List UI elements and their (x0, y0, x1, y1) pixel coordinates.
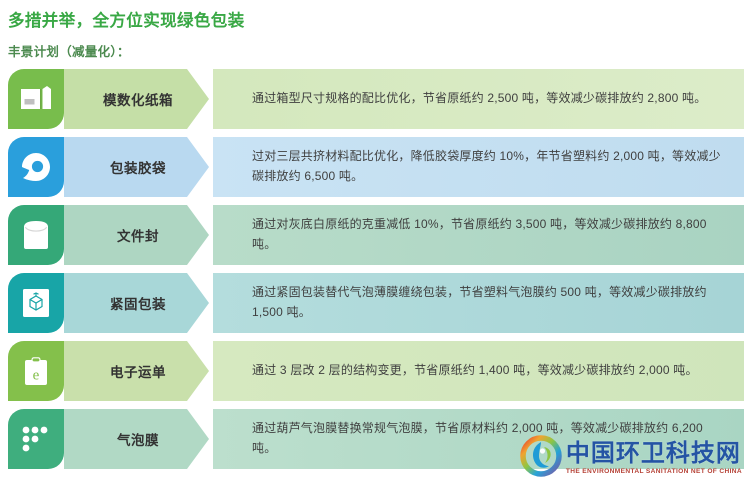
watermark-texts: 中国环卫科技网 THE ENVIRONMENTAL SANITATION NET… (566, 442, 742, 475)
watermark-english: THE ENVIRONMENTAL SANITATION NET OF CHIN… (566, 468, 742, 475)
page-title: 多措并举，全方位实现绿色包装 (8, 12, 750, 32)
sanitation-net-logo-icon (520, 435, 562, 482)
row-description-band: 通过 3 层改 2 层的结构变更，节省原纸约 1,400 吨，等效减少碳排放约 … (212, 341, 744, 401)
table-row: 文件封通过对灰底白原纸的克重减低 10%，节省原纸约 3,500 吨，等效减少碳… (8, 205, 744, 265)
table-row: 紧固包装通过紧固包装替代气泡薄膜缠绕包装，节省塑料气泡膜约 500 吨，等效减少… (8, 273, 744, 333)
secure-package-icon (21, 288, 51, 318)
table-row: 包装胶袋过对三层共挤材料配比优化，降低胶袋厚度约 10%，年节省塑料约 2,00… (8, 137, 744, 197)
row-description: 过对三层共挤材料配比优化，降低胶袋厚度约 10%，年节省塑料约 2,000 吨，… (252, 147, 728, 187)
row-description: 通过紧固包装替代气泡薄膜缠绕包装，节省塑料气泡膜约 500 吨，等效减少碳排放约… (252, 283, 728, 323)
header: 多措并举，全方位实现绿色包装 丰景计划（减量化）： (0, 0, 750, 60)
chevron-right-icon (187, 341, 213, 401)
row-label: 包装胶袋 (110, 157, 166, 177)
bubble-wrap-icon (21, 425, 51, 453)
row-icon-tile (8, 205, 64, 265)
watermark: 中国环卫科技网 THE ENVIRONMENTAL SANITATION NET… (520, 435, 742, 482)
svg-text:e: e (33, 367, 40, 383)
e-waybill-clipboard-icon: e (23, 356, 49, 386)
row-label: 文件封 (117, 225, 159, 245)
row-description-band: 过对三层共挤材料配比优化，降低胶袋厚度约 10%，年节省塑料约 2,000 吨，… (212, 137, 744, 197)
tape-roll-icon (21, 152, 51, 182)
row-label-band: 紧固包装 (64, 273, 212, 333)
row-icon-tile (8, 273, 64, 333)
row-label: 模数化纸箱 (103, 89, 173, 109)
chevron-right-icon (187, 137, 213, 197)
row-label-band: 模数化纸箱 (64, 69, 212, 129)
carton-box-icon (21, 86, 51, 112)
chevron-right-icon (187, 69, 213, 129)
chevron-right-icon (187, 273, 213, 333)
row-description: 通过箱型尺寸规格的配比优化，节省原纸约 2,500 吨，等效减少碳排放约 2,8… (252, 89, 706, 109)
row-description: 通过对灰底白原纸的克重减低 10%，节省原纸约 3,500 吨，等效减少碳排放约… (252, 215, 728, 255)
row-description-band: 通过紧固包装替代气泡薄膜缠绕包装，节省塑料气泡膜约 500 吨，等效减少碳排放约… (212, 273, 744, 333)
row-label-band: 文件封 (64, 205, 212, 265)
row-label-band: 气泡膜 (64, 409, 212, 469)
chevron-right-icon (187, 205, 213, 265)
row-icon-tile: e (8, 341, 64, 401)
row-description-band: 通过箱型尺寸规格的配比优化，节省原纸约 2,500 吨，等效减少碳排放约 2,8… (212, 69, 744, 129)
page-subtitle: 丰景计划（减量化）： (8, 41, 750, 60)
row-icon-tile (8, 137, 64, 197)
row-description: 通过 3 层改 2 层的结构变更，节省原纸约 1,400 吨，等效减少碳排放约 … (252, 361, 698, 381)
row-icon-tile (8, 409, 64, 469)
row-label: 气泡膜 (117, 429, 159, 449)
envelope-icon (23, 220, 49, 250)
infographic-page: 多措并举，全方位实现绿色包装 丰景计划（减量化）： 模数化纸箱通过箱型尺寸规格的… (0, 0, 750, 486)
chevron-right-icon (187, 409, 213, 469)
row-label-band: 包装胶袋 (64, 137, 212, 197)
row-description-band: 通过对灰底白原纸的克重减低 10%，节省原纸约 3,500 吨，等效减少碳排放约… (212, 205, 744, 265)
table-row: 模数化纸箱通过箱型尺寸规格的配比优化，节省原纸约 2,500 吨，等效减少碳排放… (8, 69, 744, 129)
measure-row-list: 模数化纸箱通过箱型尺寸规格的配比优化，节省原纸约 2,500 吨，等效减少碳排放… (0, 69, 750, 469)
table-row: e 电子运单通过 3 层改 2 层的结构变更，节省原纸约 1,400 吨，等效减… (8, 341, 744, 401)
row-label: 电子运单 (110, 361, 166, 381)
row-label-band: 电子运单 (64, 341, 212, 401)
row-icon-tile (8, 69, 64, 129)
watermark-chinese: 中国环卫科技网 (566, 442, 742, 466)
row-label: 紧固包装 (110, 293, 166, 313)
